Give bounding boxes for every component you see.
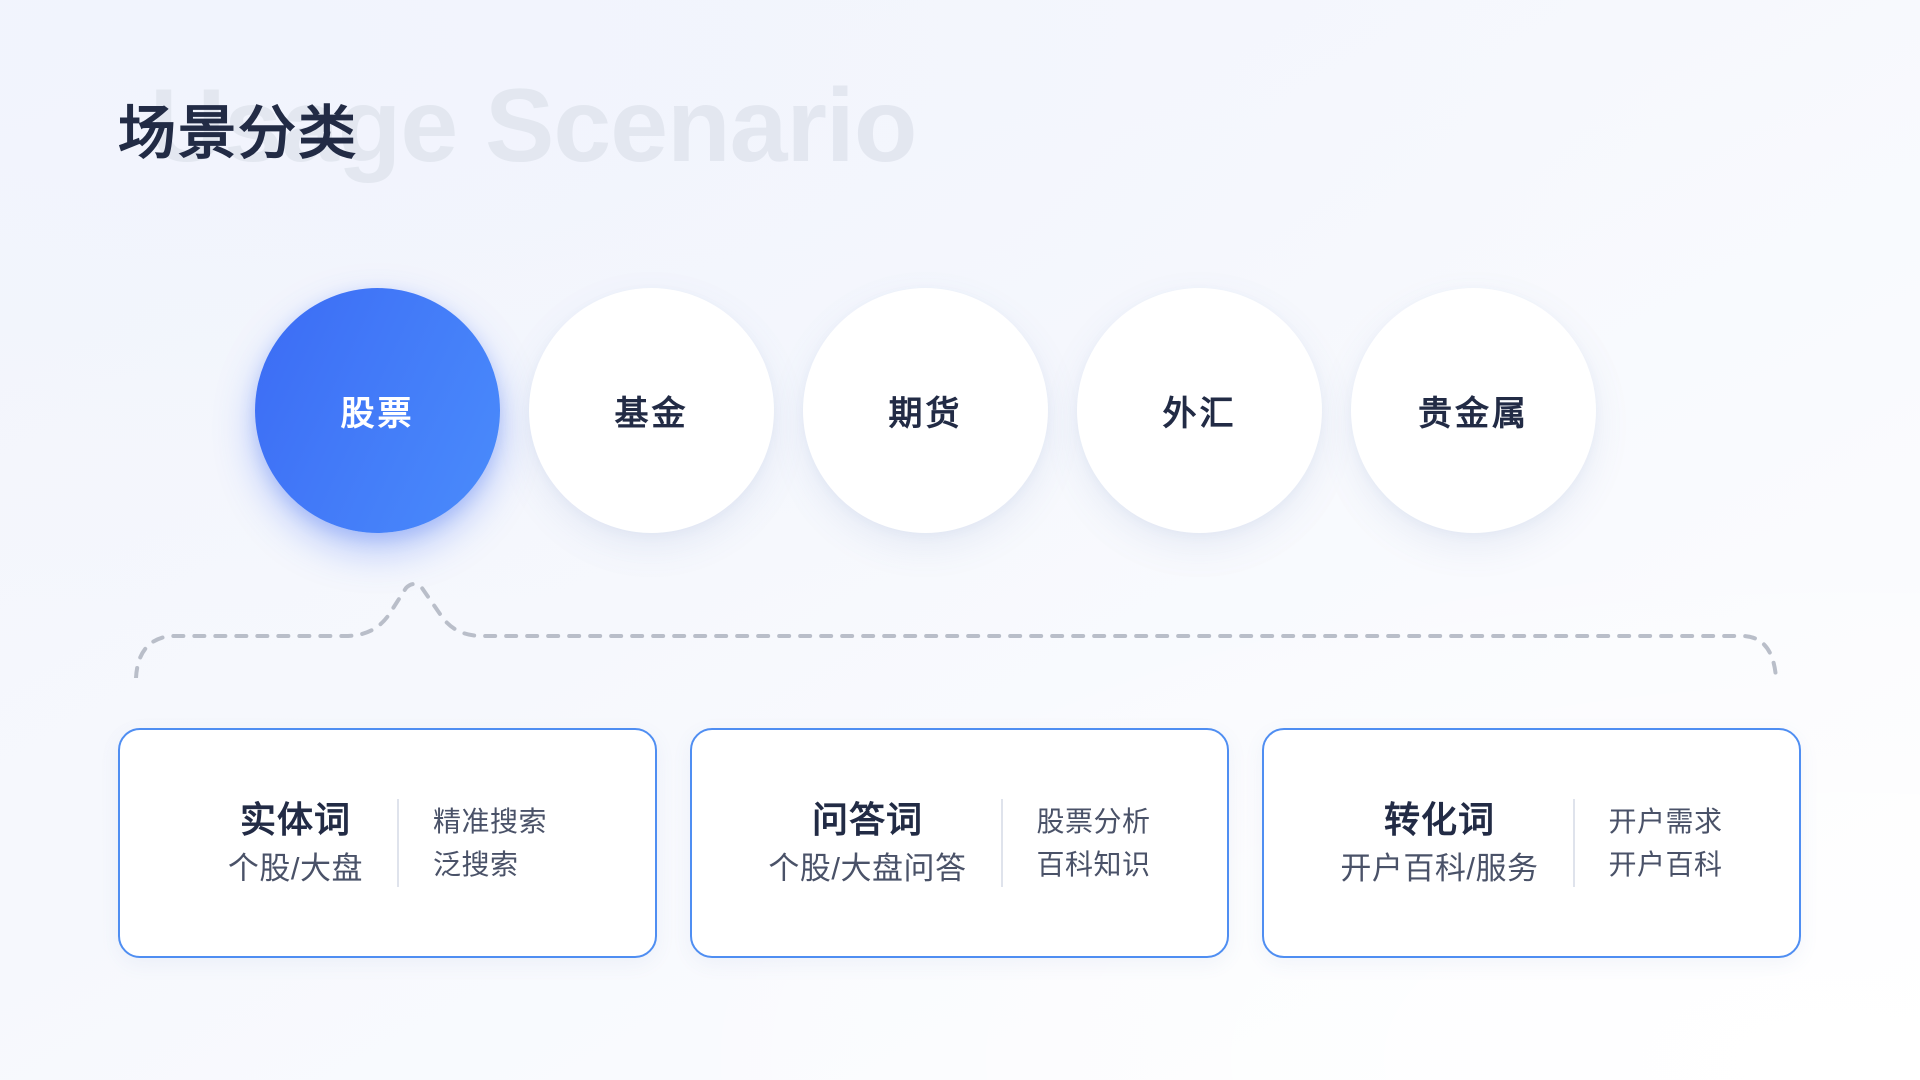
card-tag: 百科知识 xyxy=(1037,843,1151,886)
card-primary-block: 转化词 开户百科/服务 xyxy=(1340,796,1572,890)
card-subtitle: 个股/大盘 xyxy=(228,848,363,890)
connector-path xyxy=(136,584,1776,678)
category-circle-precious-metals[interactable]: 贵金属 xyxy=(1351,288,1596,533)
category-circle-label: 外汇 xyxy=(1163,386,1237,435)
card-tag-list: 开户需求 开户百科 xyxy=(1575,800,1723,887)
category-circle-stock[interactable]: 股票 xyxy=(255,288,500,533)
card-content: 转化词 开户百科/服务 开户需求 开户百科 xyxy=(1340,796,1722,890)
category-circle-label: 贵金属 xyxy=(1418,386,1529,435)
page-header: Usage Scenario 场景分类 xyxy=(118,70,1218,200)
card-tag: 泛搜索 xyxy=(433,843,519,886)
card-content: 问答词 个股/大盘问答 股票分析 百科知识 xyxy=(768,796,1150,890)
card-tag: 股票分析 xyxy=(1037,800,1151,843)
card-subtitle: 个股/大盘问答 xyxy=(768,848,966,890)
category-circle-forex[interactable]: 外汇 xyxy=(1077,288,1322,533)
dashed-connector xyxy=(118,578,1818,678)
category-circle-fund[interactable]: 基金 xyxy=(529,288,774,533)
category-circle-label: 期货 xyxy=(889,386,963,435)
category-circle-row: 股票 基金 期货 外汇 贵金属 xyxy=(255,288,1695,533)
keyword-card-entity[interactable]: 实体词 个股/大盘 精准搜索 泛搜索 xyxy=(118,728,657,958)
card-title: 问答词 xyxy=(812,796,923,845)
card-subtitle: 开户百科/服务 xyxy=(1340,848,1538,890)
category-circle-label: 基金 xyxy=(615,386,689,435)
card-title: 实体词 xyxy=(240,796,351,845)
keyword-card-qa[interactable]: 问答词 个股/大盘问答 股票分析 百科知识 xyxy=(690,728,1229,958)
card-tag-list: 股票分析 百科知识 xyxy=(1003,800,1151,887)
card-primary-block: 问答词 个股/大盘问答 xyxy=(768,796,1000,890)
card-primary-block: 实体词 个股/大盘 xyxy=(228,796,397,890)
card-tag: 精准搜索 xyxy=(433,800,547,843)
page-title: 场景分类 xyxy=(118,102,358,166)
card-content: 实体词 个股/大盘 精准搜索 泛搜索 xyxy=(228,796,547,890)
category-circle-futures[interactable]: 期货 xyxy=(803,288,1048,533)
card-title: 转化词 xyxy=(1384,796,1495,845)
keyword-card-row: 实体词 个股/大盘 精准搜索 泛搜索 问答词 个股/大盘问答 股票分析 百科知识 xyxy=(118,728,1801,958)
card-tag-list: 精准搜索 泛搜索 xyxy=(399,800,547,887)
keyword-card-conversion[interactable]: 转化词 开户百科/服务 开户需求 开户百科 xyxy=(1262,728,1801,958)
card-tag: 开户需求 xyxy=(1609,800,1723,843)
card-tag: 开户百科 xyxy=(1609,843,1723,886)
category-circle-label: 股票 xyxy=(341,386,415,435)
